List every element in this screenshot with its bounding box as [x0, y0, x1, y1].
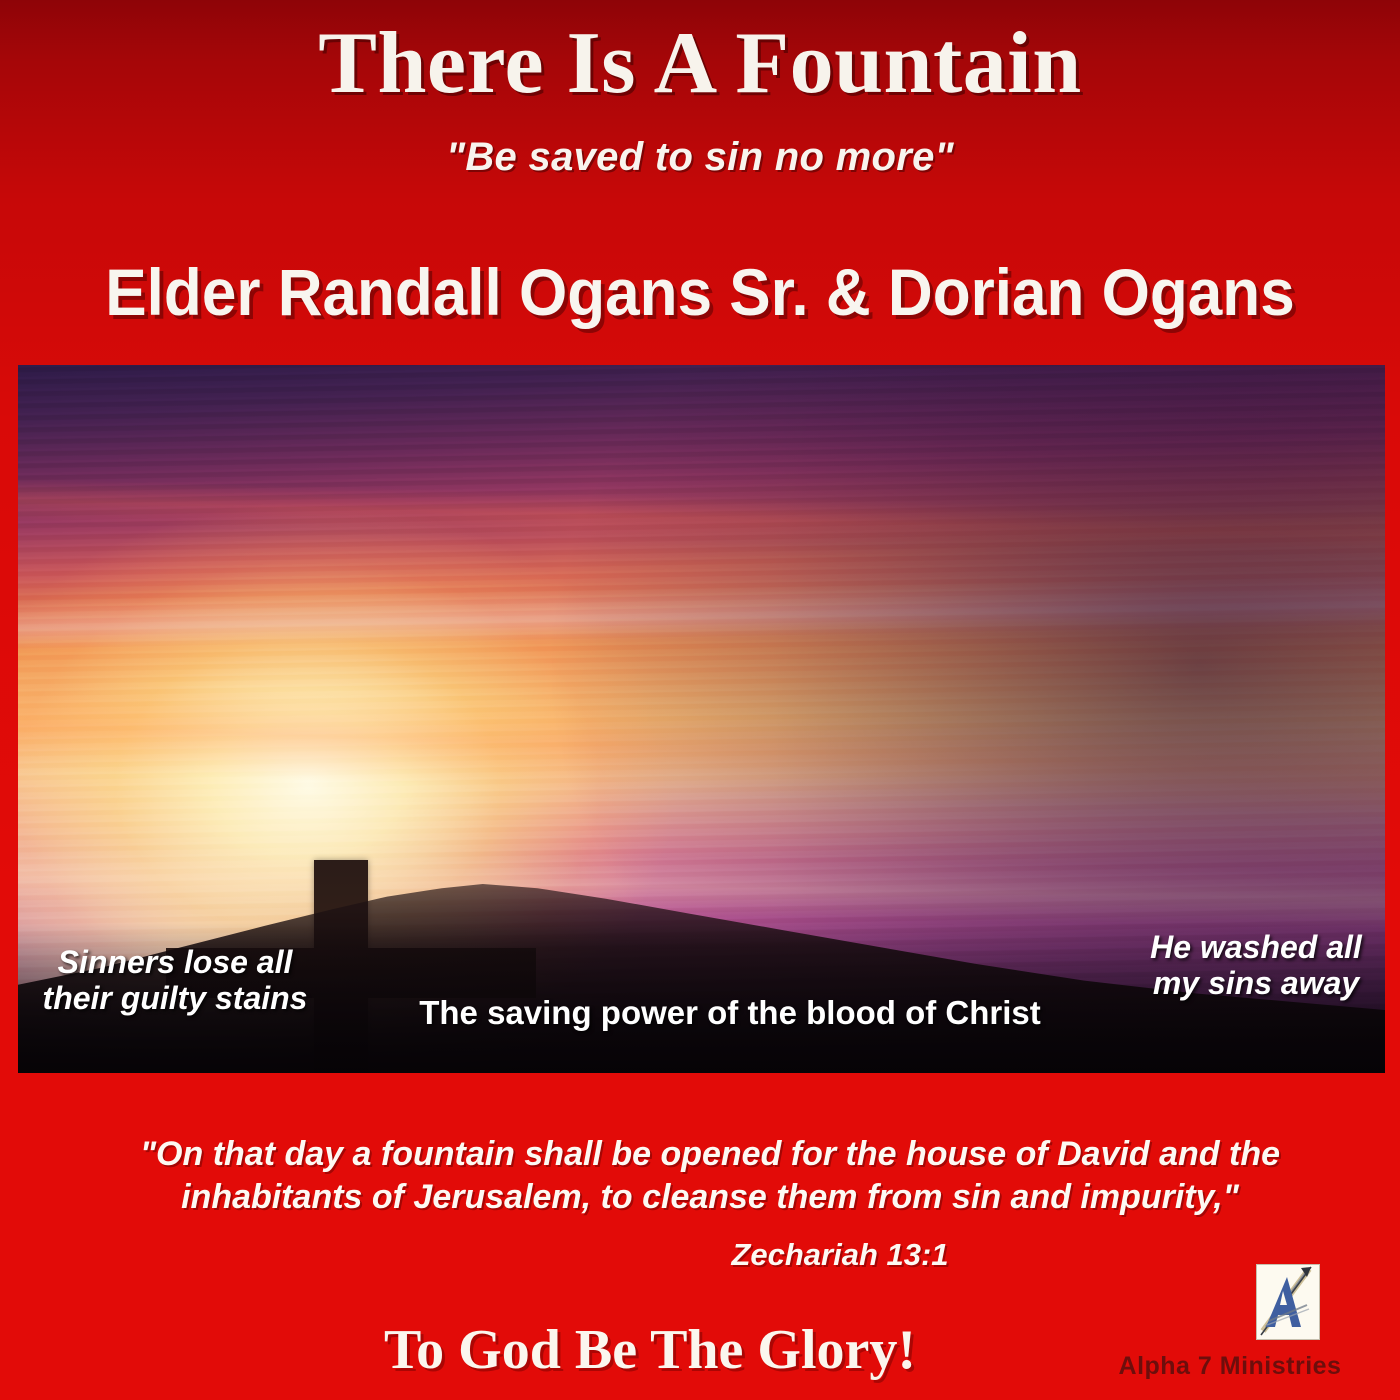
scripture-quote: "On that day a fountain shall be opened …	[120, 1133, 1300, 1219]
artist-names: Elder Randall Ogans Sr. & Dorian Ogans	[42, 258, 1358, 327]
page-title: There Is A Fountain	[0, 20, 1400, 108]
photo-caption-left: Sinners lose all their guilty stains	[30, 945, 320, 1017]
album-cover: There Is A Fountain "Be saved to sin no …	[0, 0, 1400, 1400]
album-subtitle: "Be saved to sin no more"	[0, 135, 1400, 180]
scripture-reference: Zechariah 13:1	[0, 1237, 1400, 1273]
brand-name: Alpha 7 Ministries	[1080, 1352, 1380, 1381]
alpha-7-logo-icon	[1256, 1264, 1320, 1340]
logo-artwork-icon	[1257, 1265, 1319, 1339]
photo-caption-center: The saving power of the blood of Christ	[390, 995, 1070, 1032]
photo-caption-right: He washed all my sins away	[1125, 930, 1387, 1002]
